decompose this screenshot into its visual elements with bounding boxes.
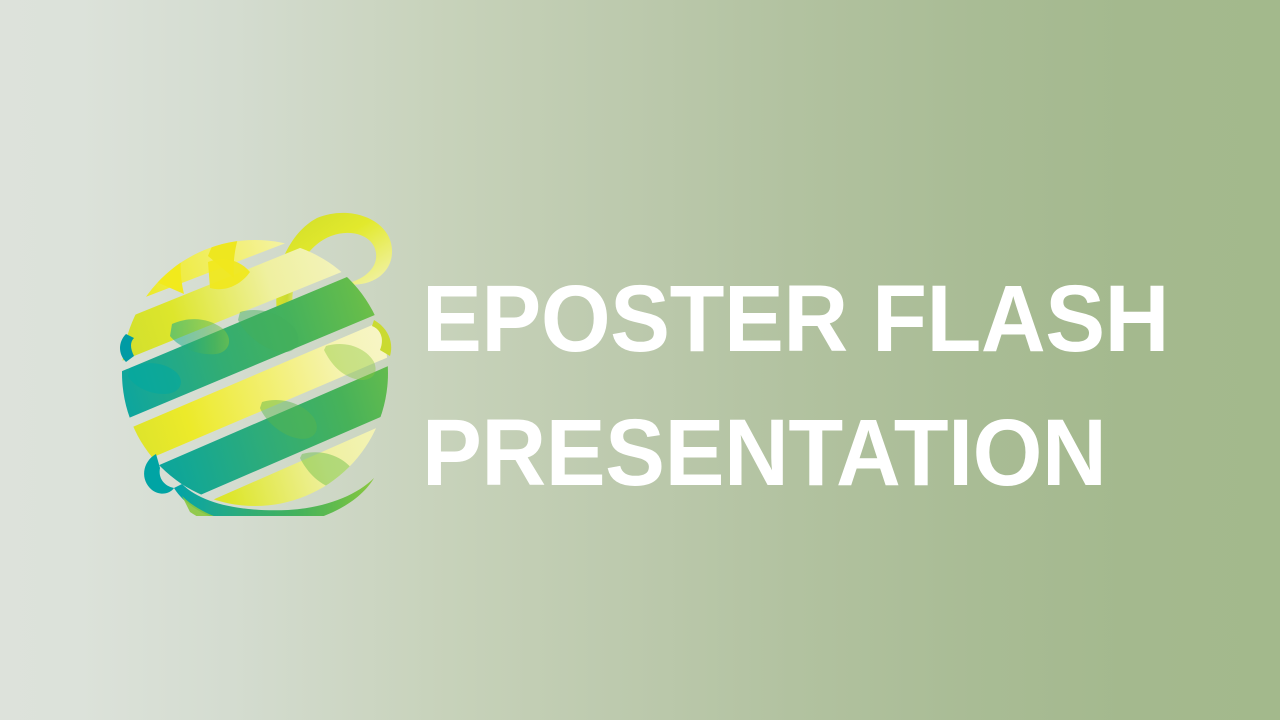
page-title: EPOSTER FLASH PRESENTATION <box>422 252 1222 520</box>
title-slide: EPOSTER FLASH PRESENTATION <box>0 0 1280 720</box>
logo <box>112 196 402 516</box>
spiral-globe-icon <box>112 196 402 516</box>
title-line-2: PRESENTATION <box>422 386 1178 520</box>
title-line-1: EPOSTER FLASH <box>422 252 1178 386</box>
